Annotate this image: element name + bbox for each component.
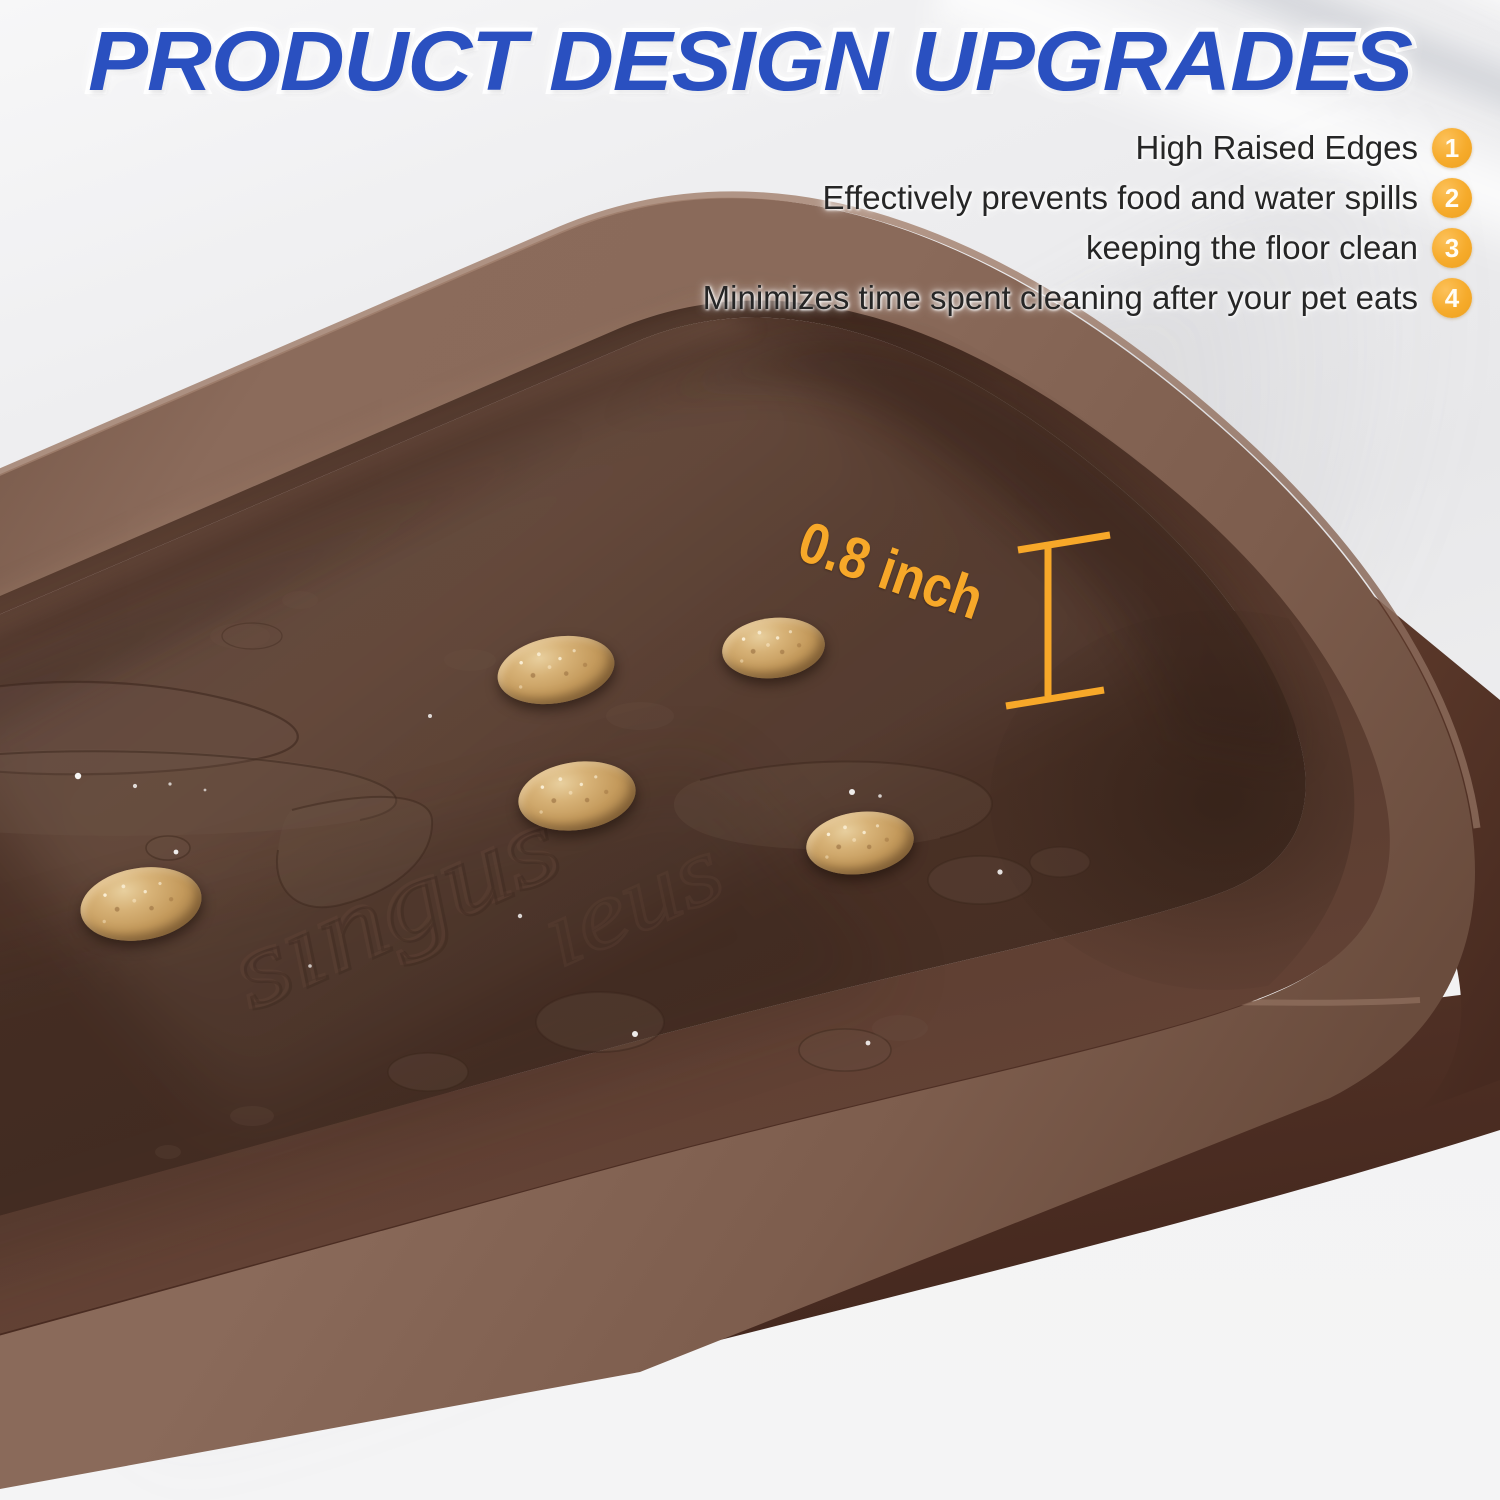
product-image-canvas: sıngus sıngus ıeus	[0, 0, 1500, 1500]
feature-number-badge: 3	[1432, 228, 1472, 268]
feature-number-badge: 2	[1432, 178, 1472, 218]
water-droplet-small	[146, 836, 190, 860]
feature-label: Minimizes time spent cleaning after your…	[703, 279, 1418, 317]
feature-item: Minimizes time spent cleaning after your…	[703, 278, 1472, 318]
feature-label: Effectively prevents food and water spil…	[822, 179, 1418, 217]
feature-label: High Raised Edges	[1136, 129, 1419, 167]
feature-list: High Raised Edges 1 Effectively prevents…	[703, 128, 1472, 318]
feature-item: Effectively prevents food and water spil…	[822, 178, 1472, 218]
feature-label: keeping the floor clean	[1086, 229, 1418, 267]
feature-number-badge: 4	[1432, 278, 1472, 318]
feature-number-badge: 1	[1432, 128, 1472, 168]
feature-item: keeping the floor clean 3	[1086, 228, 1472, 268]
feature-item: High Raised Edges 1	[1136, 128, 1473, 168]
